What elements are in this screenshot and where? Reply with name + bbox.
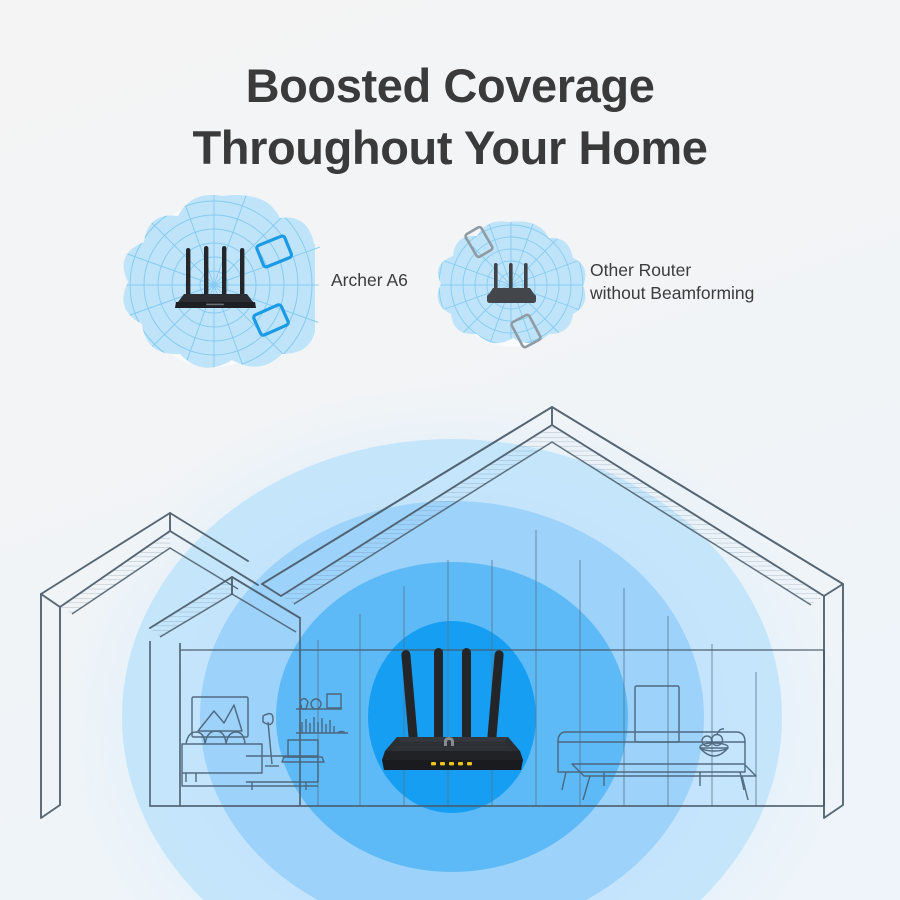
marketing-illustration: Boosted Coverage Throughout Your Home [0,0,900,900]
archer-label: Archer A6 [331,269,408,292]
comparison-diagram [0,0,900,900]
archer-coverage-blob [108,179,320,391]
other-router-label: Other Router without Beamforming [590,259,754,305]
polar-grid [108,179,320,391]
